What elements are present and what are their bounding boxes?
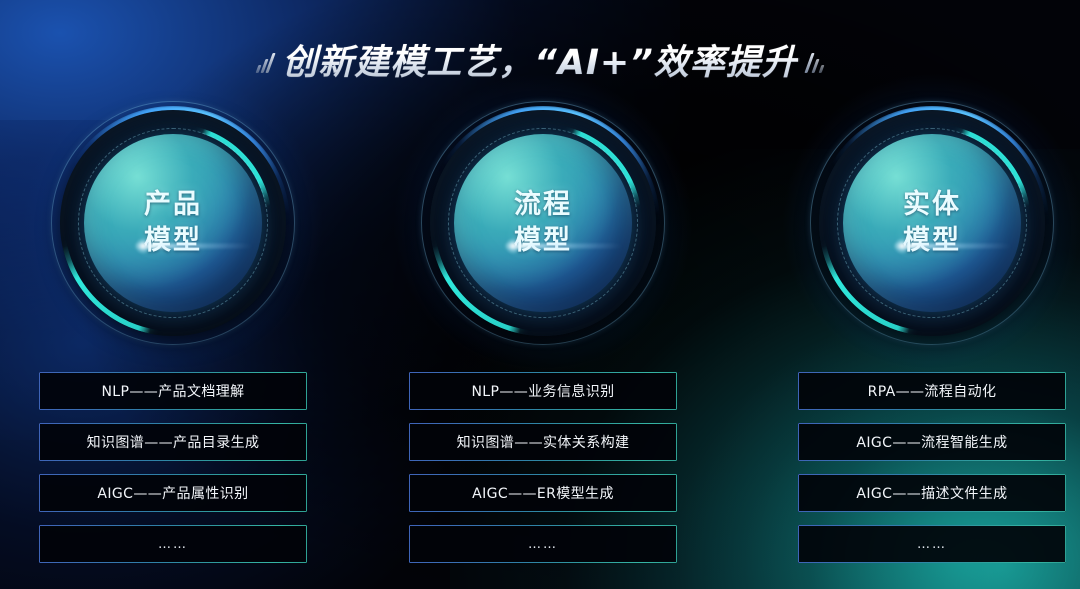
- column-entity-model: 实体 模型 RPA——流程自动化 AIGC——流程智能生成 AIGC——描述文件…: [782, 98, 1080, 576]
- list-item-label: 知识图谱——产品目录生成: [87, 432, 260, 452]
- badge-lens-flare-streak: [893, 244, 1011, 249]
- list-item-label: 知识图谱——实体关系构建: [457, 432, 630, 452]
- item-list-process-model: NLP——业务信息识别 知识图谱——实体关系构建 AIGC——ER模型生成 ……: [409, 372, 677, 563]
- item-list-entity-model: RPA——流程自动化 AIGC——流程智能生成 AIGC——描述文件生成 ……: [798, 372, 1066, 563]
- badge-lens-flare-dot: [505, 238, 521, 254]
- list-item-label: NLP——业务信息识别: [471, 381, 614, 401]
- list-item-label: AIGC——流程智能生成: [856, 432, 1007, 452]
- list-item-label: AIGC——描述文件生成: [856, 483, 1007, 503]
- list-item[interactable]: ……: [39, 525, 307, 563]
- title-decoration-left-icon: [257, 47, 272, 73]
- badge-lens-flare-streak: [134, 244, 252, 249]
- list-item[interactable]: RPA——流程自动化: [798, 372, 1066, 410]
- list-item-label: ……: [917, 537, 947, 552]
- model-columns: 产品 模型 NLP——产品文档理解 知识图谱——产品目录生成 AIGC——产品属…: [0, 0, 1080, 589]
- list-item[interactable]: 知识图谱——实体关系构建: [409, 423, 677, 461]
- list-item[interactable]: ……: [409, 525, 677, 563]
- page-title: 创新建模工艺，“AI+”效率提升: [282, 34, 798, 85]
- badge-lens-flare-dot: [894, 238, 910, 254]
- list-item[interactable]: AIGC——产品属性识别: [39, 474, 307, 512]
- title-decoration-right-icon: [808, 47, 823, 73]
- badge-inner-disc: 流程 模型: [454, 134, 632, 312]
- item-list-product-model: NLP——产品文档理解 知识图谱——产品目录生成 AIGC——产品属性识别 ……: [39, 372, 307, 563]
- list-item[interactable]: AIGC——流程智能生成: [798, 423, 1066, 461]
- list-item[interactable]: NLP——业务信息识别: [409, 372, 677, 410]
- slide-title-bar: 创新建模工艺，“AI+”效率提升: [0, 34, 1080, 85]
- badge-label-line2: 模型: [514, 223, 572, 259]
- badge-label-line2: 模型: [903, 223, 961, 259]
- badge-inner-disc: 实体 模型: [843, 134, 1021, 312]
- column-product-model: 产品 模型 NLP——产品文档理解 知识图谱——产品目录生成 AIGC——产品属…: [23, 98, 323, 576]
- badge-inner-disc: 产品 模型: [84, 134, 262, 312]
- badge-label-line2: 模型: [144, 223, 202, 259]
- list-item-label: ……: [158, 537, 188, 552]
- list-item-label: NLP——产品文档理解: [101, 381, 244, 401]
- list-item-label: AIGC——ER模型生成: [472, 483, 614, 503]
- column-process-model: 流程 模型 NLP——业务信息识别 知识图谱——实体关系构建 AIGC——ER模…: [393, 98, 693, 576]
- badge-lens-flare-dot: [135, 238, 151, 254]
- badge-product-model[interactable]: 产品 模型: [48, 98, 298, 348]
- slide-canvas: 创新建模工艺，“AI+”效率提升 产品 模型: [0, 0, 1080, 589]
- badge-label-line1: 产品: [144, 187, 202, 223]
- list-item-label: RPA——流程自动化: [868, 381, 997, 401]
- badge-entity-model[interactable]: 实体 模型: [807, 98, 1057, 348]
- list-item[interactable]: 知识图谱——产品目录生成: [39, 423, 307, 461]
- list-item-label: AIGC——产品属性识别: [97, 483, 248, 503]
- list-item[interactable]: AIGC——描述文件生成: [798, 474, 1066, 512]
- list-item-label: ……: [528, 537, 558, 552]
- badge-label-line1: 流程: [514, 187, 572, 223]
- badge-process-model[interactable]: 流程 模型: [418, 98, 668, 348]
- list-item[interactable]: NLP——产品文档理解: [39, 372, 307, 410]
- list-item[interactable]: AIGC——ER模型生成: [409, 474, 677, 512]
- list-item[interactable]: ……: [798, 525, 1066, 563]
- badge-lens-flare-streak: [504, 244, 622, 249]
- badge-label-line1: 实体: [903, 187, 961, 223]
